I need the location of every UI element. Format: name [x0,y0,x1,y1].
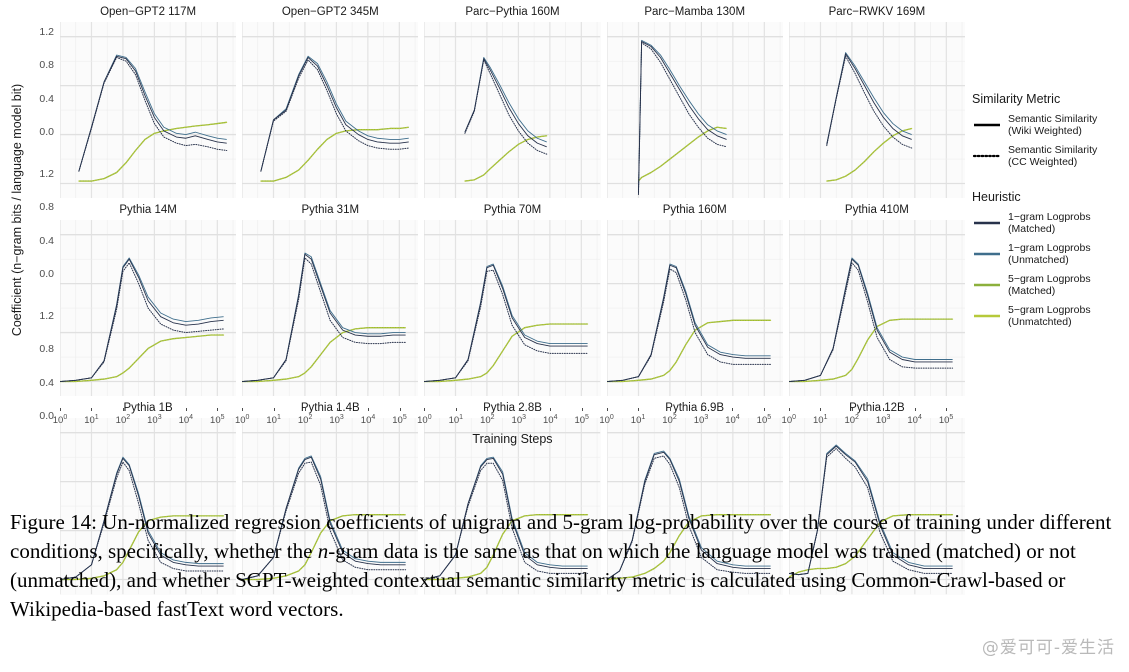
panel-7: Pythia 70M [424,200,600,396]
panel-title: Pythia 160M [607,200,783,220]
y-tick-label: 0.4 [39,235,54,247]
caption-label: Figure 14: [10,510,97,534]
figure-caption: Figure 14: Un-normalized regression coef… [10,508,1120,624]
x-tick-mark [701,408,702,411]
panel-3: Parc−Mamba 130M [607,2,783,198]
panel-6: Pythia 31M [242,200,418,396]
x-tick-mark [186,408,187,411]
x-tick-mark [123,408,124,411]
caption-italic-n: n [318,539,329,563]
panel-4: Parc−RWKV 169M [789,2,965,198]
x-tick-label: 103 [512,414,526,426]
y-axis-title: Coefficient (n−gram bits / language mode… [6,0,28,420]
legend-item-label: Semantic Similarity(CC Weighted) [1008,144,1097,168]
x-tick-mark [732,408,733,411]
x-tick-mark [670,408,671,411]
panel-plot-area [242,22,418,198]
legend-item-label: 1−gram Logprobs(Unmatched) [1008,242,1091,266]
x-tick-label: 102 [662,414,676,426]
x-axis-title: Training Steps [60,432,965,446]
x-tick-label: 102 [480,414,494,426]
x-tick-label: 103 [329,414,343,426]
x-tick-mark [820,408,821,411]
panel-plot-area [242,220,418,396]
x-tick-label: 100 [782,414,796,426]
panel-plot-area [424,220,600,396]
x-tick-label: 105 [757,414,771,426]
figure-14: Coefficient (n−gram bits / language mode… [0,0,1129,470]
x-tick-mark [789,408,790,411]
panel-1: Open−GPT2 345M [242,2,418,198]
legend-item-heuristic-3[interactable]: 5−gram Logprobs(Unmatchted) [972,304,1124,328]
x-tick-label: 103 [694,414,708,426]
panel-title: Parc−Mamba 130M [607,2,783,22]
legend-line-icon [972,214,1002,232]
panel-title: Pythia 31M [242,200,418,220]
y-tick-label: 0.0 [39,126,54,138]
x-ticks-column: 100101102103104105 [60,408,236,432]
legend-line-icon [972,116,1002,134]
panel-title: Pythia 14M [60,200,236,220]
x-tick-mark [274,408,275,411]
panel-8: Pythia 160M [607,200,783,396]
x-tick-mark [883,408,884,411]
x-tick-mark [305,408,306,411]
y-tick-label: 0.8 [39,59,54,71]
panel-0: Open−GPT2 117M [60,2,236,198]
panel-grid: Open−GPT2 117MOpen−GPT2 345MParc−Pythia … [60,2,965,428]
x-tick-mark [456,408,457,411]
legend-item-similarity-1[interactable]: Semantic Similarity(CC Weighted) [972,144,1124,168]
x-ticks-column: 100101102103104105 [607,408,783,432]
y-tick-label: 0.4 [39,377,54,389]
x-tick-label: 101 [266,414,280,426]
panel-title: Open−GPT2 345M [242,2,418,22]
y-tick-label: 1.2 [39,26,54,38]
x-tick-mark [638,408,639,411]
x-tick-label: 104 [725,414,739,426]
y-tick-label: 0.8 [39,201,54,213]
x-tick-label: 104 [543,414,557,426]
legend-item-label: 1−gram Logprobs(Matched) [1008,211,1091,235]
x-tick-label: 104 [179,414,193,426]
x-tick-label: 101 [84,414,98,426]
x-tick-label: 105 [392,414,406,426]
x-tick-mark [424,408,425,411]
x-tick-mark [946,408,947,411]
panel-plot-area [607,22,783,198]
panel-title: Pythia 410M [789,200,965,220]
panel-plot-area [789,220,965,396]
x-tick-mark [242,408,243,411]
legend-line-icon [972,307,1002,325]
legend-title-heuristic: Heuristic [972,190,1124,204]
x-tick-label: 101 [631,414,645,426]
x-tick-label: 102 [298,414,312,426]
panel-title: Pythia 70M [424,200,600,220]
legend-item-label: 5−gram Logprobs(Unmatchted) [1008,304,1091,328]
x-tick-mark [550,408,551,411]
legend-title-similarity-metric: Similarity Metric [972,92,1124,106]
x-tick-label: 102 [844,414,858,426]
legend-item-label: Semantic Similarity(Wiki Weighted) [1008,113,1097,137]
panel-5: Pythia 14M [60,200,236,396]
legend-line-icon [972,147,1002,165]
panel-title: Parc−Pythia 160M [424,2,600,22]
legend-group-heuristic: Heuristic 1−gram Logprobs(Matched)1−gram… [972,190,1124,328]
legend-item-heuristic-2[interactable]: 5−gram Logprobs(Matched) [972,273,1124,297]
x-tick-label: 101 [813,414,827,426]
x-tick-label: 103 [876,414,890,426]
x-tick-mark [852,408,853,411]
legend-item-similarity-0[interactable]: Semantic Similarity(Wiki Weighted) [972,113,1124,137]
panel-plot-area [607,220,783,396]
x-tick-label: 103 [147,414,161,426]
legend-item-label: 5−gram Logprobs(Matched) [1008,273,1091,297]
x-tick-mark [91,408,92,411]
legend-line-icon [972,276,1002,294]
panel-2: Parc−Pythia 160M [424,2,600,198]
legend-item-heuristic-0[interactable]: 1−gram Logprobs(Matched) [972,211,1124,235]
panel-plot-area [60,22,236,198]
x-tick-label: 100 [417,414,431,426]
x-tick-label: 100 [235,414,249,426]
x-axis-ticks: 1001011021031041051001011021031041051001… [60,408,965,432]
x-tick-mark [519,408,520,411]
x-tick-mark [368,408,369,411]
y-tick-label: 1.2 [39,310,54,322]
x-tick-mark [582,408,583,411]
panel-plot-area [424,22,600,198]
x-tick-label: 105 [939,414,953,426]
y-tick-label: 0.4 [39,93,54,105]
panel-plot-area [789,22,965,198]
watermark: @爱可可-爱生活 [982,633,1115,658]
y-tick-label: 0.8 [39,343,54,355]
x-tick-label: 104 [361,414,375,426]
x-tick-mark [764,408,765,411]
x-tick-label: 102 [116,414,130,426]
x-tick-label: 101 [449,414,463,426]
panel-title: Open−GPT2 117M [60,2,236,22]
x-tick-label: 100 [599,414,613,426]
panel-9: Pythia 410M [789,200,965,396]
y-axis-title-text: Coefficient (n−gram bits / language mode… [10,84,24,336]
x-tick-label: 105 [574,414,588,426]
x-tick-mark [60,408,61,411]
legend-group-similarity-metric: Similarity Metric Semantic Similarity(Wi… [972,92,1124,168]
y-axis-ticks: 0.00.40.81.20.00.40.81.20.00.40.81.2 [26,2,58,428]
x-tick-label: 100 [53,414,67,426]
x-ticks-column: 100101102103104105 [789,408,965,432]
x-tick-mark [217,408,218,411]
x-tick-mark [607,408,608,411]
panel-plot-area [60,220,236,396]
x-tick-label: 104 [907,414,921,426]
x-ticks-column: 100101102103104105 [424,408,600,432]
x-tick-mark [915,408,916,411]
panel-title: Parc−RWKV 169M [789,2,965,22]
x-tick-mark [400,408,401,411]
x-tick-mark [337,408,338,411]
legend-item-heuristic-1[interactable]: 1−gram Logprobs(Unmatched) [972,242,1124,266]
legend: Similarity Metric Semantic Similarity(Wi… [972,92,1124,350]
x-tick-mark [487,408,488,411]
x-ticks-column: 100101102103104105 [242,408,418,432]
legend-line-icon [972,245,1002,263]
y-tick-label: 1.2 [39,168,54,180]
x-tick-mark [154,408,155,411]
y-tick-label: 0.0 [39,268,54,280]
x-tick-label: 105 [210,414,224,426]
